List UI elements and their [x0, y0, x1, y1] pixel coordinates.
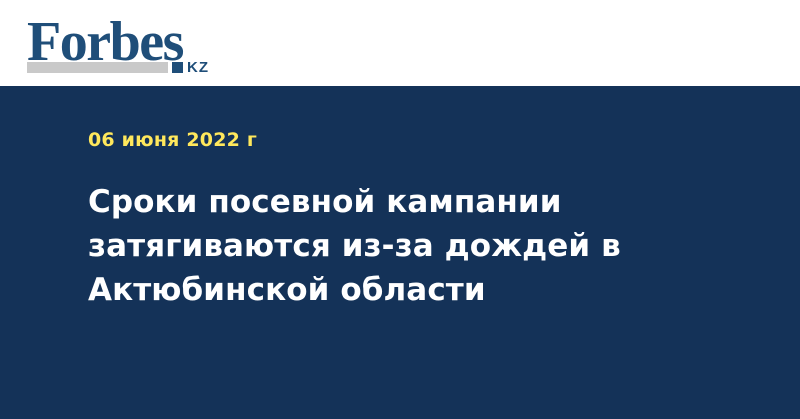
article-card: Forbes KZ 06 июня 2022 г Сроки посевной … — [0, 0, 800, 419]
logo-kz-label: KZ — [187, 60, 209, 75]
article-date: 06 июня 2022 г — [88, 129, 257, 152]
logo-square-icon — [172, 62, 183, 73]
site-header: Forbes KZ — [0, 0, 800, 86]
article-hero-panel: 06 июня 2022 г Сроки посевной кампании з… — [0, 86, 800, 419]
article-headline: Сроки посевной кампании затягиваются из-… — [88, 180, 708, 312]
forbes-kz-logo[interactable]: Forbes KZ — [27, 14, 237, 76]
logo-rule-bar — [27, 62, 168, 73]
